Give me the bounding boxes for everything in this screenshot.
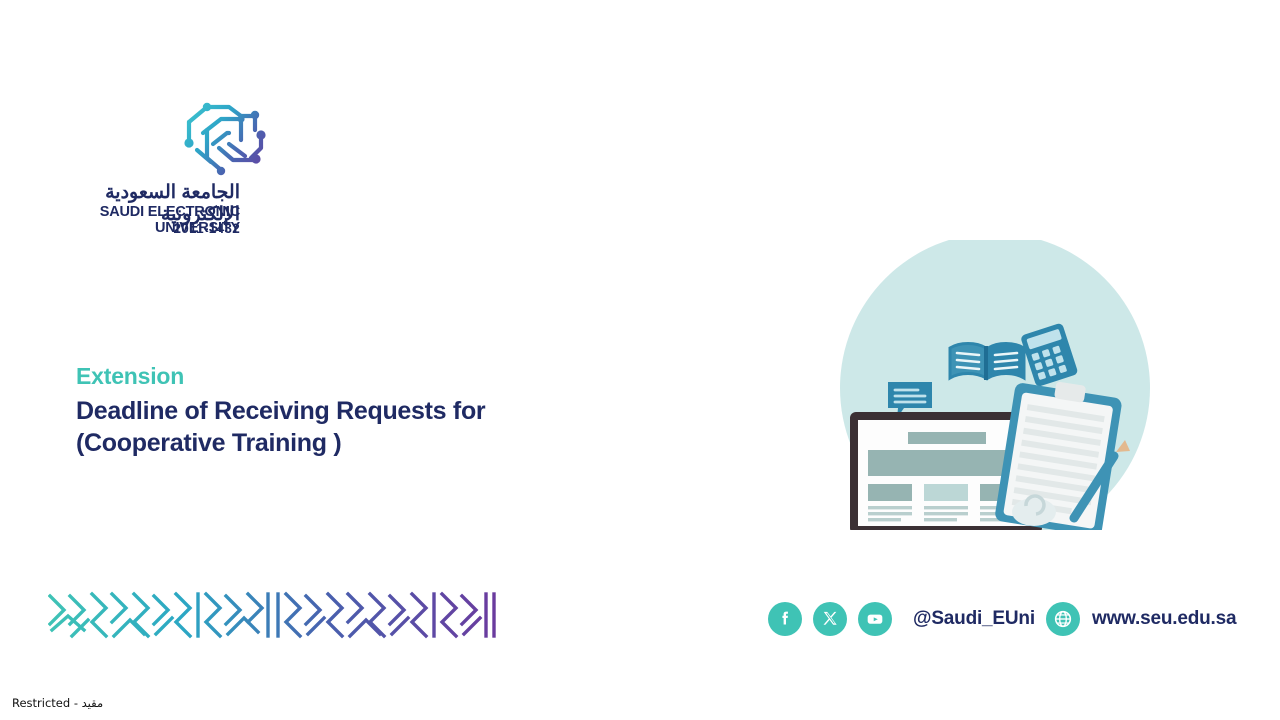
classification-footer: Restricted - مقيد	[12, 696, 103, 710]
social-handle: @Saudi_EUni	[913, 608, 1035, 630]
youtube-icon[interactable]	[858, 602, 892, 636]
globe-icon[interactable]	[1046, 602, 1080, 636]
kicker-extension: Extension	[76, 362, 636, 391]
circuit-chevron-pattern	[48, 590, 498, 640]
clipboard	[994, 375, 1124, 530]
university-logo: الجامعة السعودية الإلكترونية SAUDI ELECT…	[22, 100, 282, 240]
headline-line-2: (Cooperative Training )	[76, 427, 636, 459]
seu-hexagon-circuit-logo-icon	[177, 100, 277, 180]
open-book-icon	[950, 344, 1024, 381]
website-url: www.seu.edu.sa	[1092, 608, 1236, 630]
website-link[interactable]: www.seu.edu.sa	[1046, 601, 1236, 637]
title-block: Extension Deadline of Receiving Requests…	[76, 362, 636, 459]
slide-canvas: الجامعة السعودية الإلكترونية SAUDI ELECT…	[0, 0, 1280, 720]
x-twitter-icon[interactable]	[813, 602, 847, 636]
social-links: @Saudi_EUni	[768, 601, 1035, 637]
online-learning-illustration	[820, 240, 1170, 530]
logo-year: 2011-1432	[22, 221, 240, 236]
facebook-icon[interactable]	[768, 602, 802, 636]
headline-line-1: Deadline of Receiving Requests for	[76, 395, 636, 427]
